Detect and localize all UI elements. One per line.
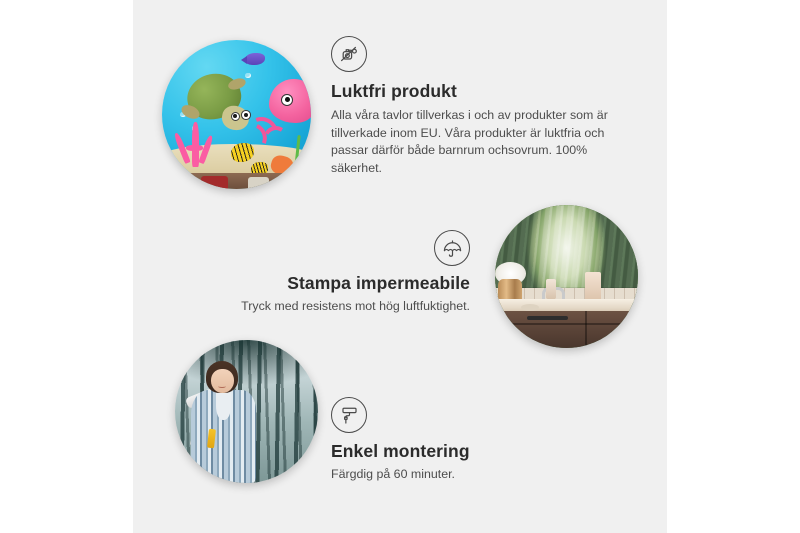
photo-underwater (162, 40, 311, 189)
feature-body: Färgdig på 60 minuter. (331, 466, 621, 484)
no-fragrance-icon (331, 36, 367, 72)
woman-shirt-collar (216, 391, 230, 420)
turtle-eye (241, 110, 251, 120)
woman-face (211, 369, 234, 393)
umbrella-icon (434, 230, 470, 266)
fish-purple-tail (241, 56, 247, 64)
photo-painter (175, 340, 318, 483)
paint-roller-icon (331, 397, 367, 433)
foreground-object (248, 177, 269, 189)
bathroom-scene (495, 205, 638, 348)
drawer-handle (527, 316, 568, 320)
feature-title: Luktfri produkt (331, 81, 631, 102)
octopus-eye (281, 94, 293, 106)
bottle-small (546, 279, 556, 299)
feature-odourless: Luktfri produkt Alla våra tavlor tillver… (331, 36, 631, 177)
soap-dish (521, 304, 540, 311)
feature-body: Alla våra tavlor tillverkas i och av pro… (331, 107, 631, 177)
vanity-cabinet (501, 311, 638, 348)
forest-canopy (175, 340, 318, 386)
feature-title: Stampa impermeabile (205, 273, 470, 294)
feature-easymount: Enkel montering Färgdig på 60 minuter. (331, 397, 621, 484)
woman-smile (218, 384, 227, 388)
bottle (585, 272, 601, 301)
feature-body: Tryck med resistens mot hög luftfuktighe… (205, 298, 470, 316)
feature-waterproof: Stampa impermeabile Tryck med resistens … (205, 230, 470, 316)
door-handle (622, 326, 626, 342)
photo-bathroom (495, 205, 638, 348)
painter-scene (175, 340, 318, 483)
infographic-page: Luktfri produkt Alla våra tavlor tillver… (0, 0, 800, 533)
feature-title: Enkel montering (331, 441, 621, 462)
coral (174, 122, 219, 167)
sea-foreground-strip (162, 173, 311, 189)
underwater-scene (162, 40, 311, 189)
bubble-icon (245, 73, 250, 78)
foreground-object (201, 176, 228, 189)
